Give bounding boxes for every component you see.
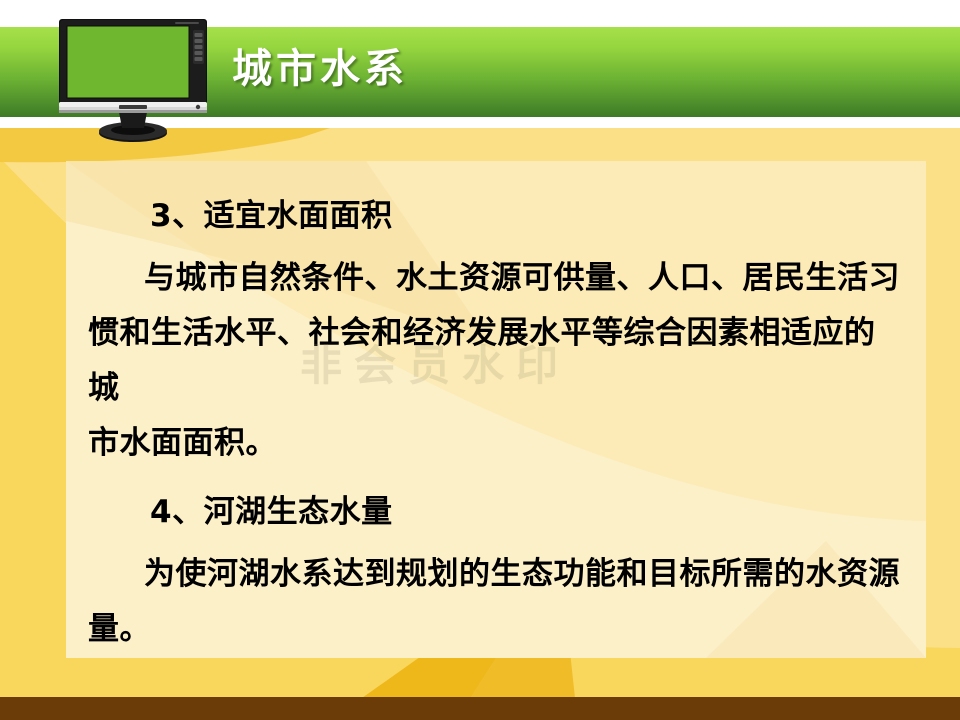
paragraph-4-line-2: 量。 [88,602,904,657]
paragraph-3-line-3: 市水面面积。 [88,416,904,471]
bottom-accent-bar [0,697,960,720]
paragraph-3-line-2: 惯和生活水平、社会和经济发展水平等综合因素相适应的城 [88,306,904,416]
content-card: 3、适宜水面面积 与城市自然条件、水土资源可供量、人口、居民生活习 惯和生活水平… [66,161,926,658]
paragraph-4-line-1: 为使河湖水系达到规划的生态功能和目标所需的水资源 [88,547,904,602]
paragraph-3-line-1: 与城市自然条件、水土资源可供量、人口、居民生活习 [88,251,904,306]
heading-item-3: 3、适宜水面面积 [88,189,904,244]
page-title: 城市水系 [232,40,632,100]
content-body: 3、适宜水面面积 与城市自然条件、水土资源可供量、人口、居民生活习 惯和生活水平… [66,161,926,658]
heading-item-4: 4、河湖生态水量 [88,485,904,540]
lcd-monitor-icon [57,16,209,142]
slide: 城市水系 3、适宜水面面积 与城市自然条件、水土资源可供量、人口、居民生活习 惯… [0,0,960,720]
